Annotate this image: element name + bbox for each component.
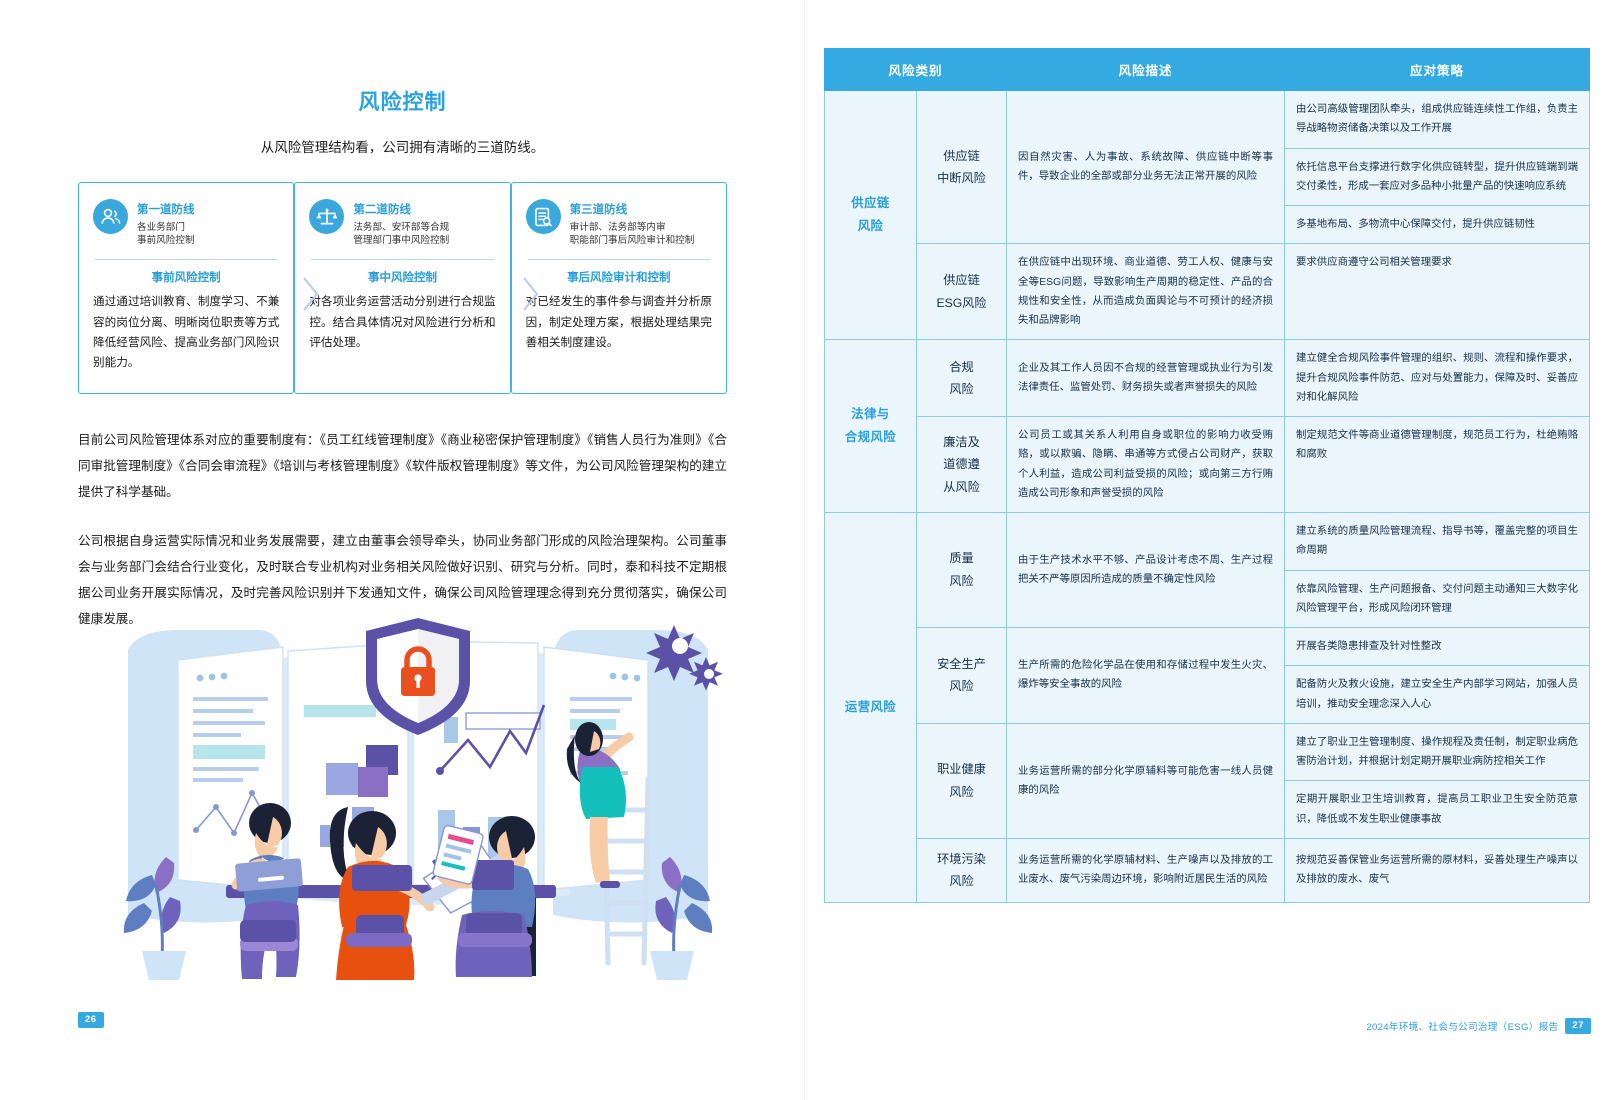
defense-line-title-1: 第一道防线 (137, 204, 195, 216)
defense-line-heading-group-1: 第一道防线 各业务部门 事前风险控制 (137, 199, 195, 248)
strategy-cell: 由公司高级管理团队牵头，组成供应链连续性工作组，负责主导战略物资储备决策以及工作… (1285, 91, 1590, 149)
table-row: 供应链 风险 供应链 中断风险 因自然灾害、人为事故、系统故障、供应链中断等事件… (825, 91, 1590, 149)
subcategory-cell: 安全生产 风险 (917, 628, 1007, 724)
subcategory-cell: 合规 风险 (917, 340, 1007, 417)
defense-line-heading-group-3: 第三道防线 审计部、法务部等内审 职能部门事后风险审计和控制 (570, 199, 695, 248)
right-page: 风险类别 风险描述 应对策略 供应链 风险 供应链 中断风险 因自然灾害、人为事… (805, 0, 1610, 1100)
divider (528, 259, 710, 260)
defense-line-dept-2: 法务部、安环部等合规 管理部门事中风险控制 (353, 221, 449, 249)
strategy-cell: 多基地布局、多物流中心保障交付，提升供应链韧性 (1285, 206, 1590, 244)
table-row: 廉洁及 道德遵 从风险 公司员工或其关系人利用自身或职位的影响力收受贿赂，或以欺… (825, 417, 1590, 513)
page-subtitle: 从风险管理结构看，公司拥有清晰的三道防线。 (0, 136, 805, 156)
column-header-category: 风险类别 (825, 49, 1007, 91)
defense-line-body-1: 通过通过培训教育、制度学习、不兼容的岗位分离、明晰岗位职责等方式降低经营风险、提… (93, 292, 279, 373)
description-cell: 企业及其工作人员因不合规的经营管理或执业行为引发法律责任、监管处罚、财务损失或者… (1007, 340, 1285, 417)
scales-icon (309, 199, 344, 234)
defense-line-title-2: 第二道防线 (353, 204, 411, 216)
risk-table: 风险类别 风险描述 应对策略 供应链 风险 供应链 中断风险 因自然灾害、人为事… (824, 48, 1590, 903)
divider (95, 259, 277, 260)
defense-line-stage-3: 事后风险审计和控制 (526, 269, 712, 285)
strategy-cell: 建立健全合规风险事件管理的组织、规则、流程和操作要求，提升合规风险事件防范、应对… (1285, 340, 1590, 417)
footer-report-title: 2024年环境、社会与公司治理（ESG）报告 (1366, 1019, 1558, 1033)
defense-line-heading-group-2: 第二道防线 法务部、安环部等合规 管理部门事中风险控制 (353, 199, 449, 248)
defense-line-card-3: 第三道防线 审计部、法务部等内审 职能部门事后风险审计和控制 事后风险审计和控制… (511, 182, 727, 394)
subcategory-cell: 质量 风险 (917, 513, 1007, 628)
chevron-right-icon (300, 274, 322, 314)
subcategory-cell: 供应链 ESG风险 (917, 244, 1007, 340)
strategy-cell: 要求供应商遵守公司相关管理要求 (1285, 244, 1590, 340)
defense-line-body-3: 对已经发生的事件参与调查并分析原因，制定处理方案，根据处理结果完善相关制度建设。 (526, 292, 712, 353)
description-cell: 公司员工或其关系人利用自身或职位的影响力收受贿赂，或以欺骗、隐瞒、串通等方式侵占… (1007, 417, 1285, 513)
defense-line-header-1: 第一道防线 各业务部门 事前风险控制 (93, 199, 279, 248)
category-cell-supply-chain: 供应链 风险 (825, 91, 917, 340)
strategy-cell: 依托信息平台支撑进行数字化供应链转型，提升供应链端到端交付柔性，形成一套应对多品… (1285, 148, 1590, 206)
strategy-cell: 建立了职业卫生管理制度、操作规程及责任制，制定职业病危害防治计划，并根据计划定期… (1285, 723, 1590, 781)
strategy-cell: 制定规范文件等商业道德管理制度，规范员工行为，杜绝贿赂和腐败 (1285, 417, 1590, 513)
defense-line-stage-1: 事前风险控制 (93, 269, 279, 285)
page-number-left: 26 (78, 1012, 104, 1028)
risk-table-body: 供应链 风险 供应链 中断风险 因自然灾害、人为事故、系统故障、供应链中断等事件… (825, 91, 1590, 903)
table-row: 法律与 合规风险 合规 风险 企业及其工作人员因不合规的经营管理或执业行为引发法… (825, 340, 1590, 417)
description-cell: 业务运营所需的化学原辅材料、生产噪声以及排放的工业废水、废气污染周边环境，影响附… (1007, 838, 1285, 902)
page-title: 风险控制 (0, 86, 805, 116)
defense-line-header-3: 第三道防线 审计部、法务部等内审 职能部门事后风险审计和控制 (526, 199, 712, 248)
table-row: 环境污染 风险 业务运营所需的化学原辅材料、生产噪声以及排放的工业废水、废气污染… (825, 838, 1590, 902)
defense-line-dept-3: 审计部、法务部等内审 职能部门事后风险审计和控制 (570, 221, 695, 249)
strategy-cell: 配备防火及救火设施，建立安全生产内部学习网站，加强人员培训，推动安全理念深入人心 (1285, 666, 1590, 724)
strategy-cell: 建立系统的质量风险管理流程、指导书等，覆盖完整的项目生命周期 (1285, 513, 1590, 571)
description-cell: 业务运营所需的部分化学原辅料等可能危害一线人员健康的风险 (1007, 723, 1285, 838)
defense-line-dept-1: 各业务部门 事前风险控制 (137, 221, 195, 249)
category-cell-legal-compliance: 法律与 合规风险 (825, 340, 917, 513)
paragraph-systems: 目前公司风险管理体系对应的重要制度有：《员工红线管理制度》《商业秘密保护管理制度… (78, 428, 727, 505)
table-row: 供应链 ESG风险 在供应链中出现环境、商业道德、劳工人权、健康与安全等ESG问… (825, 244, 1590, 340)
strategy-cell: 定期开展职业卫生培训教育，提高员工职业卫生安全防范意识，降低或不发生职业健康事故 (1285, 781, 1590, 839)
defense-line-header-2: 第二道防线 法务部、安环部等合规 管理部门事中风险控制 (309, 199, 495, 248)
strategy-cell: 依靠风险管理、生产问题报备、交付问题主动通知三大数字化风险管理平台，形成风险闭环… (1285, 570, 1590, 628)
document-search-icon (526, 199, 561, 234)
left-page: 风险控制 从风险管理结构看，公司拥有清晰的三道防线。 第一道防线 (0, 0, 805, 1100)
table-header-row: 风险类别 风险描述 应对策略 (825, 49, 1590, 91)
risk-control-team-illustration (108, 585, 728, 980)
table-row: 安全生产 风险 生产所需的危险化学品在使用和存储过程中发生火灾、爆炸等安全事故的… (825, 628, 1590, 666)
description-cell: 生产所需的危险化学品在使用和存储过程中发生火灾、爆炸等安全事故的风险 (1007, 628, 1285, 724)
subcategory-cell: 环境污染 风险 (917, 838, 1007, 902)
page-number-right: 27 (1565, 1018, 1591, 1034)
defense-line-title-3: 第三道防线 (570, 204, 628, 216)
defense-lines-row: 第一道防线 各业务部门 事前风险控制 事前风险控制 通过通过培训教育、制度学习、… (0, 182, 805, 394)
risk-table-wrapper: 风险类别 风险描述 应对策略 供应链 风险 供应链 中断风险 因自然灾害、人为事… (824, 48, 1589, 903)
defense-line-stage-2: 事中风险控制 (309, 269, 495, 285)
column-header-strategy: 应对策略 (1285, 49, 1590, 91)
defense-line-card-1: 第一道防线 各业务部门 事前风险控制 事前风险控制 通过通过培训教育、制度学习、… (78, 182, 294, 394)
description-cell: 在供应链中出现环境、商业道德、劳工人权、健康与安全等ESG问题，导致影响生产周期… (1007, 244, 1285, 340)
description-cell: 由于生产技术水平不够、产品设计考虑不周、生产过程把关不严等原因所造成的质量不确定… (1007, 513, 1285, 628)
defense-line-body-2: 对各项业务运营活动分别进行合规监控。结合具体情况对风险进行分析和评估处理。 (309, 292, 495, 353)
category-cell-operations: 运营风险 (825, 513, 917, 903)
subcategory-cell: 职业健康 风险 (917, 723, 1007, 838)
subcategory-cell: 供应链 中断风险 (917, 91, 1007, 244)
strategy-cell: 按规范妥善保管业务运营所需的原材料，妥善处理生产噪声以及排放的废水、废气 (1285, 838, 1590, 902)
divider (311, 259, 493, 260)
table-row: 职业健康 风险 业务运营所需的部分化学原辅料等可能危害一线人员健康的风险 建立了… (825, 723, 1590, 781)
people-icon (93, 199, 128, 234)
document-spread: 风险控制 从风险管理结构看，公司拥有清晰的三道防线。 第一道防线 (0, 0, 1610, 1100)
description-cell: 因自然灾害、人为事故、系统故障、供应链中断等事件，导致企业的全部或部分业务无法正… (1007, 91, 1285, 244)
table-row: 运营风险 质量 风险 由于生产技术水平不够、产品设计考虑不周、生产过程把关不严等… (825, 513, 1590, 571)
chevron-right-icon (520, 274, 542, 314)
column-header-description: 风险描述 (1007, 49, 1285, 91)
defense-line-card-2: 第二道防线 法务部、安环部等合规 管理部门事中风险控制 事中风险控制 对各项业务… (294, 182, 510, 394)
strategy-cell: 开展各类隐患排查及针对性整改 (1285, 628, 1590, 666)
page-footer-right: 2024年环境、社会与公司治理（ESG）报告 27 (1366, 1018, 1591, 1034)
subcategory-cell: 廉洁及 道德遵 从风险 (917, 417, 1007, 513)
